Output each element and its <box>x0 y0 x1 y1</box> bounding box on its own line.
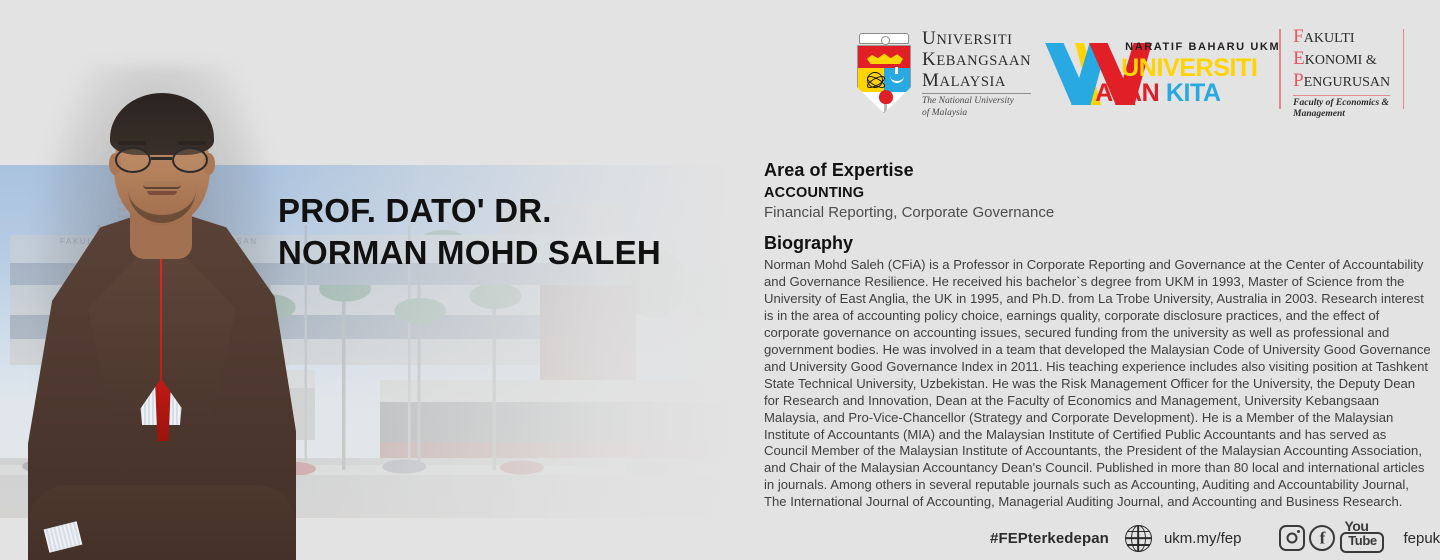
atom-icon <box>867 72 883 88</box>
ukm-logo: UNIVERSITI KEBANGSAAN MALAYSIA The Natio… <box>855 29 1031 118</box>
social-icons: f You Tube <box>1279 521 1384 555</box>
eyebrow-left <box>118 141 146 145</box>
youtube-icon[interactable]: You Tube <box>1340 521 1384 555</box>
globe-parallel-top <box>1127 531 1150 532</box>
lens-right <box>172 147 208 173</box>
poster-root: FAKULTI EKONOMI DAN PENGURUSAN FAKULTI E… <box>0 0 1440 560</box>
expertise-field: ACCOUNTING <box>764 185 1432 201</box>
ukm-initial-u: U <box>922 28 936 49</box>
fep-word-ekonomi: KONOMI & <box>1305 53 1377 68</box>
ukm-word-line-1: UNIVERSITI <box>922 29 1031 48</box>
facebook-f-glyph: f <box>1320 530 1326 547</box>
title-line-2: NORMAN MOHD SALEH <box>278 232 708 274</box>
flame-icon <box>879 90 893 104</box>
ukm-initial-k: K <box>922 49 936 70</box>
fep-initial-e: E <box>1293 48 1305 69</box>
fep-initial-p: P <box>1293 70 1304 91</box>
fep-word-pengurusan: ENGURUSAN <box>1304 75 1390 90</box>
title-line-1: PROF. DATO' DR. <box>278 190 708 232</box>
fep-tagline: Faculty of Economics & Management <box>1293 95 1390 121</box>
glasses-bridge <box>151 157 172 160</box>
expertise-heading: Area of Expertise <box>764 160 1432 181</box>
globe-icon <box>1125 525 1152 552</box>
ukm-word-universiti: NIVERSITI <box>936 32 1012 48</box>
instagram-lens <box>1287 533 1298 544</box>
fep-tagline-line-1: Faculty of Economics & <box>1293 98 1390 109</box>
portrait-photo <box>10 55 310 560</box>
instagram-icon[interactable] <box>1279 525 1305 551</box>
fep-initial-f: F <box>1293 26 1304 47</box>
footer-hashtag: #FEPterkedepan <box>990 530 1109 547</box>
youtube-tube-text: Tube <box>1340 533 1384 548</box>
ukm-tagline-line-2: of Malaysia <box>922 108 1031 119</box>
ukm-initial-m: M <box>922 70 940 91</box>
fep-logo: FAKULTI EKONOMI & PENGURUSAN Faculty of … <box>1279 27 1404 120</box>
website-link[interactable]: ukm.my/fep <box>1164 530 1242 547</box>
moustache <box>143 181 181 189</box>
naratif-watan: ATAN <box>1095 79 1166 107</box>
ukm-tagline: The National University of Malaysia <box>922 93 1031 118</box>
ukm-word-line-2: KEBANGSAAN <box>922 50 1031 69</box>
ukm-word-line-3: MALAYSIA <box>922 71 1031 90</box>
mouth <box>147 191 177 195</box>
biography-text: Norman Mohd Saleh (CFiA) is a Professor … <box>764 257 1432 511</box>
fep-line-1: FAKULTI <box>1293 27 1390 47</box>
fep-line-2: EKONOMI & <box>1293 49 1390 69</box>
logo-bar: UNIVERSITI KEBANGSAAN MALAYSIA The Natio… <box>855 24 1404 124</box>
lens-left <box>115 147 151 173</box>
eyeglasses <box>114 147 210 173</box>
globe-ellipse <box>1131 525 1146 552</box>
naratif-watan-kita: ATAN KITA <box>1095 79 1221 108</box>
page-title: PROF. DATO' DR. NORMAN MOHD SALEH <box>278 190 708 274</box>
ukm-word-kebangsaan: EBANGSAAN <box>936 53 1031 69</box>
naratif-kita: KITA <box>1166 79 1221 107</box>
fep-line-3: PENGURUSAN <box>1293 71 1390 91</box>
biography-heading: Biography <box>764 233 1432 254</box>
globe-parallel-bottom <box>1127 544 1150 545</box>
footer-bar: #FEPterkedepan ukm.my/fep f You Tube <box>990 518 1440 558</box>
eyebrow-right <box>178 141 206 145</box>
crest-cap <box>859 33 909 44</box>
facebook-icon[interactable]: f <box>1309 525 1335 551</box>
ukm-tagline-line-1: The National University <box>922 96 1031 107</box>
social-handle: fepukm <box>1403 530 1440 547</box>
naratif-tagline: NARATIF BAHARU UKM <box>1125 41 1280 53</box>
fep-tagline-line-2: Management <box>1293 109 1390 120</box>
fep-word-fakulti: AKULTI <box>1304 31 1355 46</box>
instagram-dot <box>1297 530 1300 533</box>
expertise-subfields: Financial Reporting, Corporate Governanc… <box>764 204 1432 221</box>
crest-shield <box>857 45 911 113</box>
naratif-baharu-logo: NARATIF BAHARU UKM UNIVERSITI ATAN KITA <box>1045 33 1257 115</box>
ukm-wordmark: UNIVERSITI KEBANGSAAN MALAYSIA The Natio… <box>922 29 1031 118</box>
profile-content: Area of Expertise ACCOUNTING Financial R… <box>764 160 1432 511</box>
ukm-crest-icon <box>855 33 913 115</box>
ukm-word-malaysia: ALAYSIA <box>940 74 1007 90</box>
